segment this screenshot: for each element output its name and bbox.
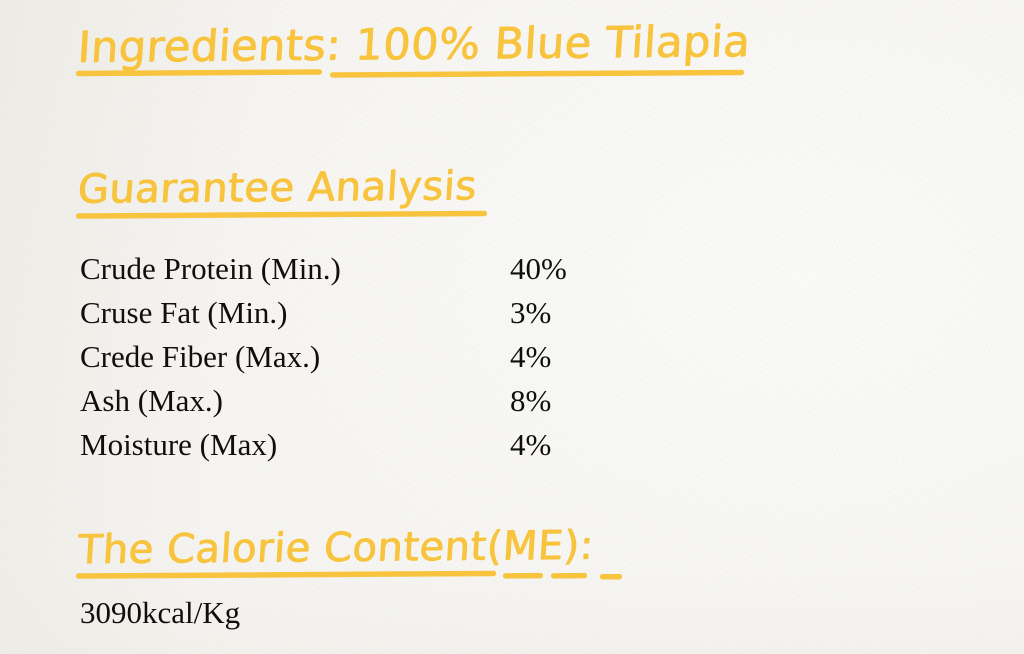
- calorie-content-heading: The Calorie Content(ME):: [77, 526, 595, 570]
- calorie-content-value: 3090kcal/Kg: [80, 596, 240, 630]
- table-row: Moisture (Max) 4%: [80, 428, 640, 472]
- nutrient-value: 4%: [510, 428, 551, 462]
- table-row: Cruse Fat (Min.) 3%: [80, 296, 640, 340]
- table-row: Crude Protein (Min.) 40%: [80, 252, 640, 296]
- nutrient-label: Ash (Max.): [80, 384, 510, 418]
- nutrient-value: 4%: [510, 340, 551, 374]
- ingredients-heading-underline-stroke-2: [330, 70, 744, 78]
- nutrient-label: Crede Fiber (Max.): [80, 340, 510, 374]
- nutrient-label: Moisture (Max): [80, 428, 510, 462]
- guarantee-analysis-table: Crude Protein (Min.) 40% Cruse Fat (Min.…: [80, 252, 640, 472]
- label-content: Ingredients: 100% Blue Tilapia Guarantee…: [0, 0, 1024, 654]
- calorie-content-heading-underline-stroke-2: [503, 573, 543, 578]
- table-row: Crede Fiber (Max.) 4%: [80, 340, 640, 384]
- ingredients-heading: Ingredients: 100% Blue Tilapia: [76, 21, 751, 70]
- calorie-content-heading-underline-stroke-3: [551, 573, 587, 578]
- ingredients-heading-underline-stroke-1: [76, 69, 322, 76]
- nutrient-value: 3%: [510, 296, 551, 330]
- calorie-content-heading-underline-stroke-4: [600, 574, 622, 579]
- nutrient-label: Cruse Fat (Min.): [80, 296, 510, 330]
- nutrient-value: 8%: [510, 384, 551, 418]
- nutrient-label: Crude Protein (Min.): [80, 252, 510, 286]
- pet-food-label-sheet: Ingredients: 100% Blue Tilapia Guarantee…: [0, 0, 1024, 654]
- nutrient-value: 40%: [510, 252, 567, 286]
- table-row: Ash (Max.) 8%: [80, 384, 640, 428]
- guarantee-analysis-heading: Guarantee Analysis: [77, 166, 478, 209]
